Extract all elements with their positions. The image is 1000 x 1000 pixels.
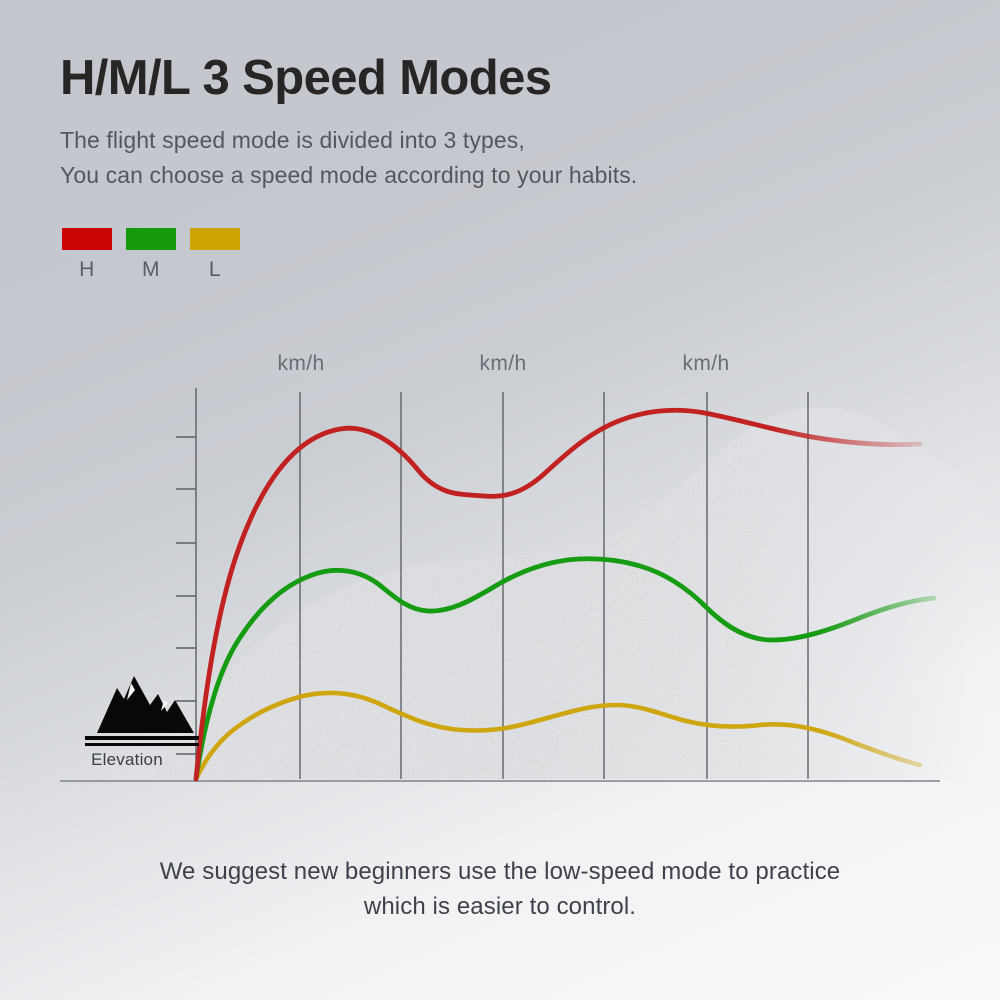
- infographic-page: H/M/L 3 Speed Modes The flight speed mod…: [0, 0, 1000, 1000]
- axis-unit-label-1: km/h: [277, 352, 324, 375]
- footer-line-1: We suggest new beginners use the low-spe…: [0, 855, 1000, 890]
- axis-unit-label-2: km/h: [479, 352, 526, 375]
- speed-mode-chart: km/h km/h km/h Elevation: [0, 0, 1000, 1000]
- footer-caption: We suggest new beginners use the low-spe…: [0, 855, 1000, 925]
- elevation-label: Elevation: [91, 750, 163, 769]
- footer-line-2: which is easier to control.: [0, 890, 1000, 925]
- elevation-terrain: [150, 407, 980, 779]
- axis-unit-label-3: km/h: [682, 352, 729, 375]
